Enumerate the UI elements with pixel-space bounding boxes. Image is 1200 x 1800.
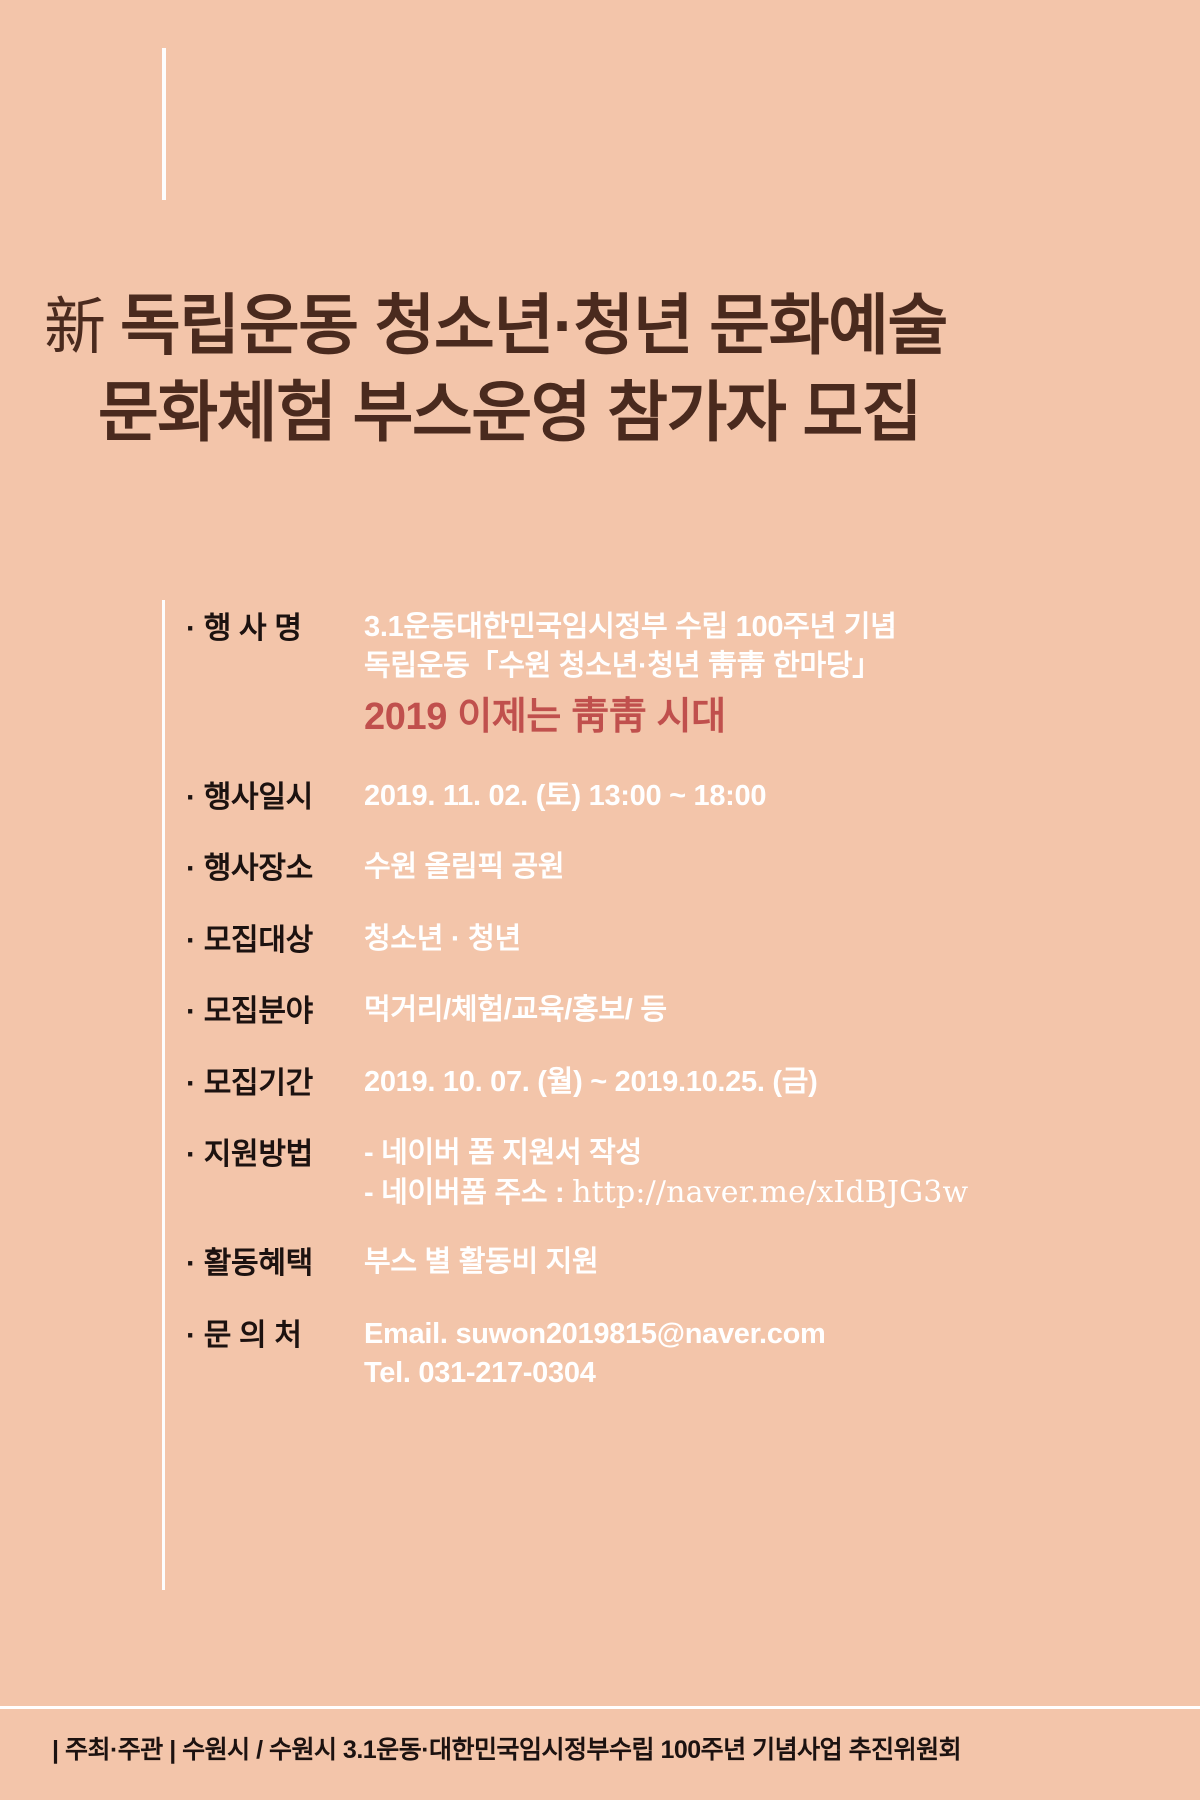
apply-method-line-1: - 네이버 폼 지원서 작성 [364,1134,1146,1173]
detail-row-period: · 모집기간 2019. 10. 07. (월) ~ 2019.10.25. (… [186,1063,1146,1103]
detail-label-event-name: · 행 사 명 [186,608,364,648]
detail-label-field: · 모집분야 [186,991,364,1031]
poster-canvas: 新독립운동 청소년·청년 문화예술 문화체험 부스운영 참가자 모집 · 행 사… [0,0,1200,1800]
field-text: 먹거리/체험/교육/홍보/ 등 [364,991,1146,1030]
details-vertical-rule [162,600,165,1590]
detail-value-benefit: 부스 별 활동비 지원 [364,1243,1146,1282]
detail-label-event-datetime: · 행사일시 [186,777,364,817]
contact-phone[interactable]: Tel. 031-217-0304 [364,1354,1146,1393]
event-tagline: 2019 이제는 靑靑 시대 [364,692,1146,743]
detail-row-apply-method: · 지원방법 - 네이버 폼 지원서 작성 - 네이버폼 주소 : http:/… [186,1134,1146,1213]
detail-row-benefit: · 활동혜택 부스 별 활동비 지원 [186,1243,1146,1283]
event-name-line-1: 3.1운동대한민국임시정부 수립 100주년 기념 [364,608,1146,647]
apply-method-line-2: - 네이버폼 주소 : http://naver.me/xIdBJG3w [364,1173,1146,1213]
apply-url-prefix: - 네이버폼 주소 : [364,1177,572,1209]
details-list: · 행 사 명 3.1운동대한민국임시정부 수립 100주년 기념 독립운동「수… [186,608,1146,1392]
detail-value-contact: Email. suwon2019815@naver.com Tel. 031-2… [364,1315,1146,1393]
detail-value-field: 먹거리/체험/교육/홍보/ 등 [364,991,1146,1030]
detail-row-contact: · 문 의 처 Email. suwon2019815@naver.com Te… [186,1315,1146,1393]
target-text: 청소년 · 청년 [364,920,1146,959]
detail-label-target: · 모집대상 [186,920,364,960]
detail-row-field: · 모집분야 먹거리/체험/교육/홍보/ 등 [186,991,1146,1031]
headline-line-1: 新독립운동 청소년·청년 문화예술 [44,290,1164,361]
detail-label-benefit: · 활동혜택 [186,1243,364,1283]
detail-label-contact: · 문 의 처 [186,1315,364,1355]
benefit-text: 부스 별 활동비 지원 [364,1243,1146,1282]
top-vertical-rule [162,48,166,200]
footer-organizers: | 주최·주관 | 수원시 / 수원시 3.1운동·대한민국임시정부수립 100… [52,1730,1162,1766]
period-text: 2019. 10. 07. (월) ~ 2019.10.25. (금) [364,1063,1146,1102]
detail-value-period: 2019. 10. 07. (월) ~ 2019.10.25. (금) [364,1063,1146,1102]
naver-form-url[interactable]: http://naver.me/xIdBJG3w [572,1175,968,1210]
footer-divider [0,1706,1200,1709]
detail-value-apply-method: - 네이버 폼 지원서 작성 - 네이버폼 주소 : http://naver.… [364,1134,1146,1213]
event-name-line-2: 독립운동「수원 청소년·청년 靑靑 한마당」 [364,647,1146,686]
detail-value-event-datetime: 2019. 11. 02. (토) 13:00 ~ 18:00 [364,777,1146,816]
detail-row-event-datetime: · 행사일시 2019. 11. 02. (토) 13:00 ~ 18:00 [186,777,1146,817]
detail-label-apply-method: · 지원방법 [186,1134,364,1174]
detail-value-event-place: 수원 올림픽 공원 [364,848,1146,887]
detail-label-period: · 모집기간 [186,1063,364,1103]
event-place-text: 수원 올림픽 공원 [364,848,1146,887]
headline-hanja-new: 新 [44,290,120,363]
detail-row-target: · 모집대상 청소년 · 청년 [186,920,1146,960]
detail-value-target: 청소년 · 청년 [364,920,1146,959]
detail-row-event-place: · 행사장소 수원 올림픽 공원 [186,848,1146,888]
event-datetime-text: 2019. 11. 02. (토) 13:00 ~ 18:00 [364,777,1146,816]
detail-row-event-name: · 행 사 명 3.1운동대한민국임시정부 수립 100주년 기념 독립운동「수… [186,608,1146,743]
poster-headline: 新독립운동 청소년·청년 문화예술 문화체험 부스운영 참가자 모집 [44,290,1164,449]
headline-line-2: 문화체험 부스운영 참가자 모집 [44,377,1164,448]
headline-line-1-text: 독립운동 청소년·청년 문화예술 [120,288,947,362]
detail-label-event-place: · 행사장소 [186,848,364,888]
contact-email[interactable]: Email. suwon2019815@naver.com [364,1315,1146,1354]
detail-value-event-name: 3.1운동대한민국임시정부 수립 100주년 기념 독립운동「수원 청소년·청년… [364,608,1146,743]
